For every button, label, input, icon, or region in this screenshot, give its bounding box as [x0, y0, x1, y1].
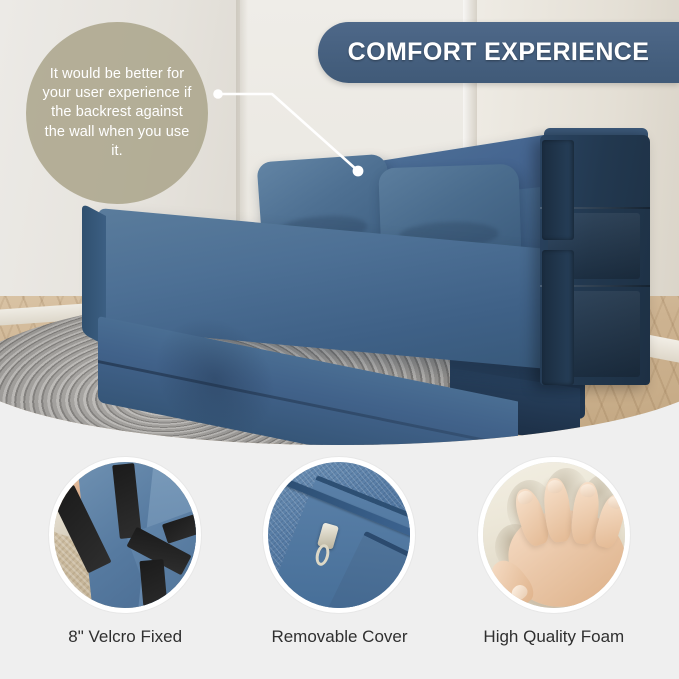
fingernail	[516, 489, 534, 506]
feature-item-foam: High Quality Foam	[454, 445, 654, 647]
fingernail	[580, 483, 596, 497]
thumbnail	[509, 582, 530, 603]
feature-item-velcro: 8" Velcro Fixed	[25, 445, 225, 647]
feature-section: 8" Velcro Fixed Removable Cover	[0, 445, 679, 679]
banner-title: COMFORT EXPERIENCE	[348, 38, 650, 67]
feature-image-velcro	[49, 457, 201, 613]
fingernail	[607, 495, 624, 510]
feature-image-cover	[263, 457, 415, 613]
backrest-strap-upper	[542, 140, 574, 240]
feature-label-velcro: 8" Velcro Fixed	[68, 627, 182, 647]
feature-label-cover: Removable Cover	[271, 627, 407, 647]
backrest-strap-lower	[542, 250, 574, 385]
product-infographic: It would be better for your user experie…	[0, 0, 679, 679]
callout-bubble: It would be better for your user experie…	[26, 22, 208, 204]
feature-row: 8" Velcro Fixed Removable Cover	[0, 445, 679, 679]
fingernail	[547, 479, 563, 493]
callout-text: It would be better for your user experie…	[41, 65, 193, 161]
hero-image: It would be better for your user experie…	[0, 0, 679, 445]
feature-label-foam: High Quality Foam	[483, 627, 624, 647]
comfort-experience-banner: COMFORT EXPERIENCE	[318, 22, 679, 83]
feature-item-cover: Removable Cover	[239, 445, 439, 647]
feature-image-foam	[478, 457, 630, 613]
